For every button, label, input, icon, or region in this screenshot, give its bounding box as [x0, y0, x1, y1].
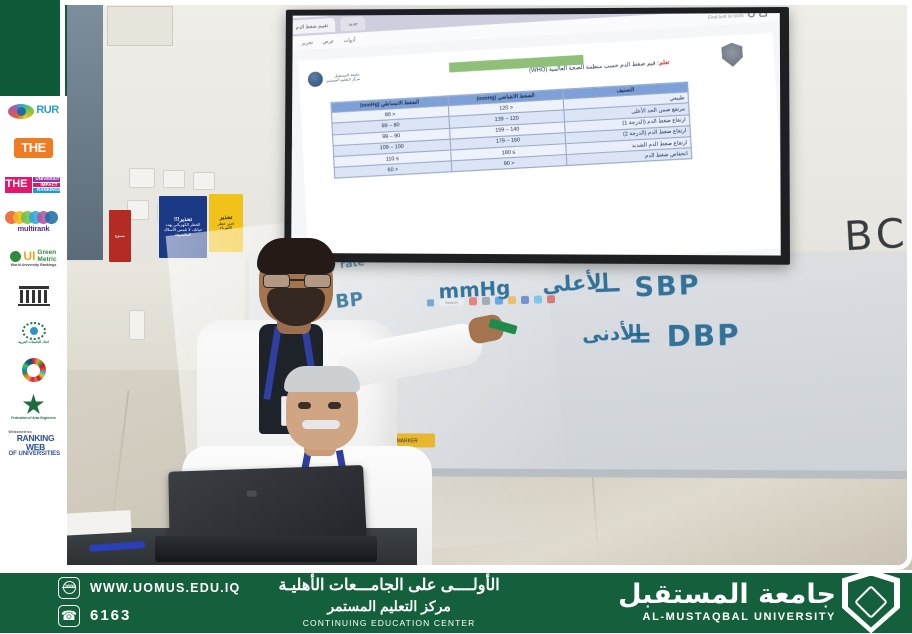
rail-top-band	[0, 0, 67, 96]
webometrics-icon: Webometrics RANKING WEB OF UNIVERSITIES	[5, 429, 63, 459]
menu-file[interactable]: ملف	[291, 40, 292, 47]
warning-red-body: ممنوع	[115, 234, 125, 239]
greek-temple-ranking-icon	[5, 281, 63, 311]
taskbar-app-icon-4	[508, 296, 516, 304]
app-search-placeholder: Find text or tools	[708, 13, 744, 19]
shield-inner-emblem	[848, 576, 894, 628]
multirank-icon: multirank	[5, 207, 63, 237]
the-impact-rankings-icon: THE UNIVERSITY IMPACT RANKINGS	[5, 170, 63, 200]
the-impact-line1: UNIVERSITY	[33, 177, 63, 182]
elder-eye-right	[328, 402, 341, 409]
phone-icon: ☎	[58, 605, 80, 627]
multirank-rings-icon	[10, 211, 58, 224]
slide-globe-icon	[308, 71, 324, 87]
slide-title-alert: تعلم:	[657, 60, 670, 67]
webometrics-line1: RANKING WEB	[9, 434, 63, 451]
website-row[interactable]: WWW.UOMUS.EDU.IQ	[58, 577, 240, 599]
the-impact-line3: RANKINGS	[33, 188, 63, 193]
light-switch-2	[163, 170, 185, 188]
wb-ink-dbp: = DBP	[628, 318, 741, 354]
university-name-english: AL-MUSTAQBAL UNIVERSITY	[618, 611, 836, 623]
sdg-circle-icon	[22, 358, 46, 382]
webometrics-line2: OF UNIVERSITIES	[9, 451, 61, 457]
website-text: WWW.UOMUS.EDU.IQ	[90, 581, 240, 595]
the-ranking-icon: THE	[5, 133, 63, 163]
classroom-photo: تحذير!!! الخطر الكهربائي يهدد حياتك، لا …	[67, 0, 912, 570]
laptop	[155, 468, 377, 564]
windows-start-icon	[427, 299, 434, 306]
taskbar-app-icon-6	[534, 295, 542, 303]
taskbar-app-icon-7	[547, 295, 555, 303]
sdg-wheel-icon	[5, 355, 63, 385]
multirank-label: multirank	[18, 225, 50, 233]
footer-contact: WWW.UOMUS.EDU.IQ ☎ 6163	[58, 577, 240, 627]
university-shield-logo	[842, 570, 900, 634]
federation-arab-engineers-icon: Federation of Arab Engineers	[5, 392, 63, 422]
footer-bar: WWW.UOMUS.EDU.IQ ☎ 6163 الأولــــى على ا…	[0, 570, 912, 633]
university-slide-logo: جامعة المستقبل مركز التعليم المستمر	[308, 69, 361, 87]
browser-tab-1[interactable]: تقييم ضغط الدم	[291, 18, 336, 35]
octagon-star-icon	[23, 394, 45, 416]
fae-sub: Federation of Arab Engineers	[11, 417, 56, 420]
university-branding: جامعة المستقبل AL-MUSTAQBAL UNIVERSITY	[618, 570, 900, 634]
the-impact-bars: UNIVERSITY IMPACT RANKINGS	[33, 177, 63, 193]
ui-greenmetric-icon: UI Green Metric World University Ranking…	[5, 244, 63, 274]
warning-sign-red: ممنوع	[109, 210, 131, 262]
projection-screen: تقييم ضغط الدم جديد ملف تحرير عرض أدوات …	[291, 13, 781, 255]
taskbar-app-icon-3	[495, 297, 503, 305]
greenmetric-line2: Metric	[37, 256, 56, 263]
globe-www-icon	[58, 577, 80, 599]
menu-view[interactable]: عرض	[322, 38, 334, 45]
laptop-screen-lid	[168, 465, 366, 545]
wall-socket-lower	[129, 310, 145, 340]
elder-eye-left	[298, 402, 311, 409]
tagline-arabic: الأولــــى على الجامـــعات الأهليـة	[278, 575, 499, 595]
wall-unit	[107, 6, 173, 46]
phone-row[interactable]: ☎ 6163	[58, 605, 240, 627]
greenmetric-sub: World University Rankings	[11, 264, 57, 268]
arab-universities-icon: اتحاد الجامعات العربية	[5, 318, 63, 348]
rur-ranking-icon: RUR	[5, 96, 63, 126]
elder-mustache	[302, 420, 340, 429]
search-icon[interactable]	[748, 13, 755, 18]
app-search[interactable]: Find text or tools	[708, 13, 767, 20]
instructor-hair	[257, 238, 335, 274]
rur-label: RUR	[36, 105, 58, 117]
blood-pressure-table: الضغط الانبساطي (mmHg) الضغط الانقباضي (…	[330, 81, 692, 179]
footer-divider	[0, 570, 912, 573]
taskbar-app-icon-2	[482, 297, 490, 305]
taskbar-search-label: Search	[439, 298, 464, 306]
rur-eye-icon	[8, 104, 34, 119]
app-right-toolbar[interactable]	[780, 13, 781, 39]
app-left-toolbar[interactable]	[291, 57, 293, 150]
door-frame	[67, 0, 103, 260]
greenmetric-ui-label: UI	[23, 250, 35, 263]
the-impact-label: THE	[5, 177, 32, 193]
light-switch-1	[129, 168, 155, 188]
center-name-english: CONTINUING EDUCATION CENTER	[278, 618, 499, 628]
laptop-base	[155, 536, 377, 562]
taskbar-app-icon-1	[469, 297, 477, 305]
footer-tagline: الأولــــى على الجامـــعات الأهليـة مركز…	[278, 575, 499, 628]
projection-screen-frame: تقييم ضغط الدم جديد ملف تحرير عرض أدوات …	[284, 7, 790, 265]
slide-content: جامعة المستقبل مركز التعليم المستمر تعلم…	[298, 33, 780, 256]
wb-ink-bcd-letters: BCD	[843, 208, 912, 260]
university-name-arabic: جامعة المستقبل	[618, 581, 836, 608]
eyeglasses-icon	[263, 274, 331, 288]
screenshot-root: RUR THE THE UNIVERSITY IMPACT RANKINGS m…	[0, 0, 912, 633]
slide-org-line2: مركز التعليم المستمر	[326, 77, 360, 83]
headphones-icon[interactable]	[759, 13, 767, 16]
wreath-icon	[22, 322, 46, 340]
browser-tab-2[interactable]: جديد	[341, 16, 366, 31]
menu-tools[interactable]: أدوات	[343, 36, 355, 43]
paper-sheet	[67, 510, 132, 536]
light-switch-3	[193, 172, 215, 190]
elder-hair	[284, 366, 360, 392]
center-name-arabic: مركز التعليم المستمر	[278, 598, 499, 615]
arab-universities-label: اتحاد الجامعات العربية	[18, 341, 49, 345]
taskbar-app-icon-5	[521, 296, 529, 304]
the-label: THE	[14, 138, 53, 158]
greenmetric-globe-icon	[10, 251, 21, 262]
menu-edit[interactable]: تحرير	[301, 39, 313, 46]
phone-number: 6163	[90, 607, 131, 624]
